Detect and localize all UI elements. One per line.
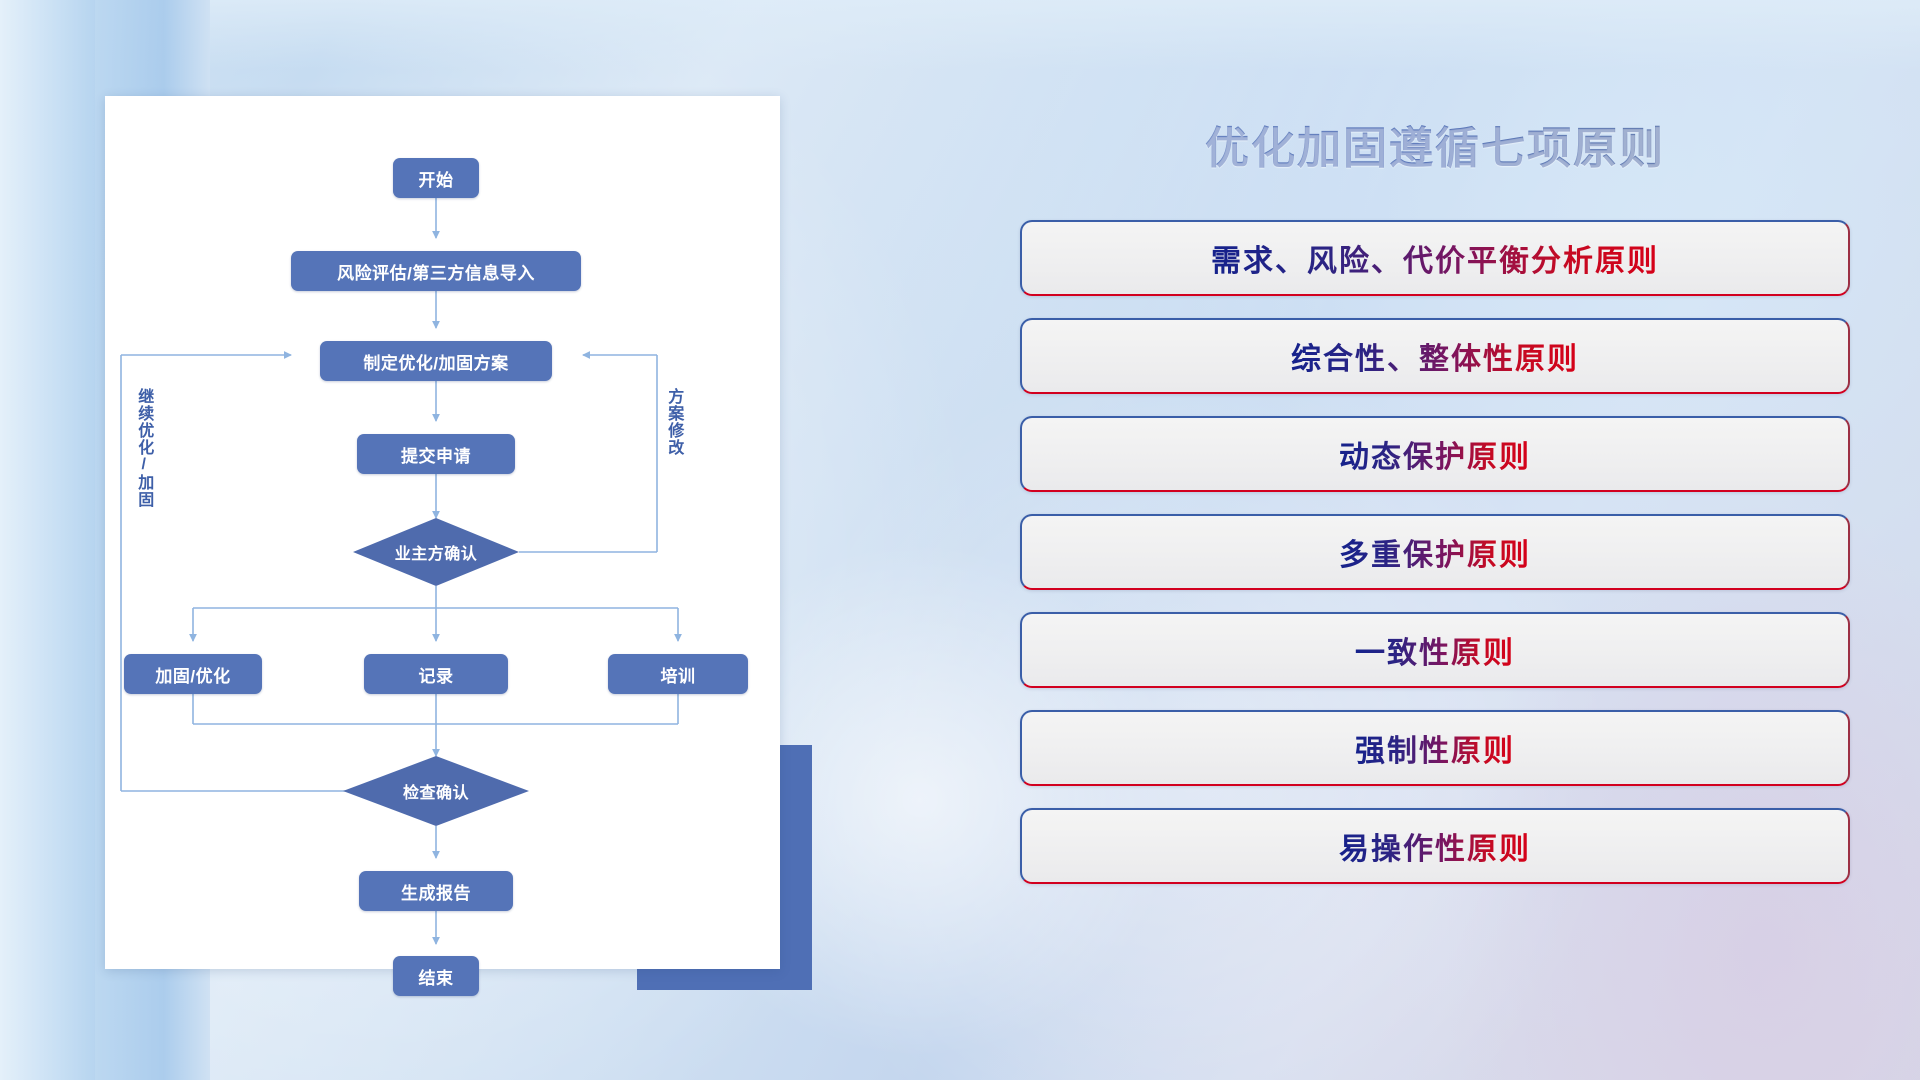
flow-node-plan[interactable]: 制定优化/加固方案 xyxy=(320,341,552,381)
flow-node-label: 生成报告 xyxy=(401,879,471,904)
flow-node-label: 加固/优化 xyxy=(155,662,230,687)
flow-node-training[interactable]: 培训 xyxy=(608,654,748,694)
background-left-highlight xyxy=(0,0,95,1080)
flow-node-label: 结束 xyxy=(419,964,454,989)
principle-label: 易操作性原则 xyxy=(1339,824,1531,868)
principle-label: 强制性原则 xyxy=(1355,726,1515,770)
flow-node-check-confirm[interactable]: 检查确认 xyxy=(343,756,529,826)
principles-panel: 优化加固遵循七项原则 需求、风险、代价平衡分析原则 综合性、整体性原则 动态保护… xyxy=(1020,96,1850,1016)
flow-node-record[interactable]: 记录 xyxy=(364,654,508,694)
principles-list: 需求、风险、代价平衡分析原则 综合性、整体性原则 动态保护原则 多重保护原则 一… xyxy=(1020,220,1850,884)
flow-node-label: 风险评估/第三方信息导入 xyxy=(337,259,535,284)
flow-node-label: 提交申请 xyxy=(401,442,471,467)
principle-item[interactable]: 多重保护原则 xyxy=(1020,514,1850,590)
principle-label: 一致性原则 xyxy=(1355,628,1515,672)
principle-item[interactable]: 综合性、整体性原则 xyxy=(1020,318,1850,394)
flow-node-risk-assessment[interactable]: 风险评估/第三方信息导入 xyxy=(291,251,581,291)
principle-item[interactable]: 易操作性原则 xyxy=(1020,808,1850,884)
flow-node-label: 开始 xyxy=(419,166,454,191)
flow-edge-label-left: 继续优化/加固 xyxy=(135,388,152,508)
flow-node-label: 记录 xyxy=(419,662,454,687)
flow-node-label: 业主方确认 xyxy=(395,540,478,564)
principle-label: 综合性、整体性原则 xyxy=(1291,334,1579,378)
flow-node-submit[interactable]: 提交申请 xyxy=(357,434,515,474)
principle-label: 需求、风险、代价平衡分析原则 xyxy=(1211,236,1659,280)
flow-node-start[interactable]: 开始 xyxy=(393,158,479,198)
principle-item[interactable]: 需求、风险、代价平衡分析原则 xyxy=(1020,220,1850,296)
background-top-glow xyxy=(0,0,1920,70)
principle-label: 动态保护原则 xyxy=(1339,432,1531,476)
flow-node-reinforce[interactable]: 加固/优化 xyxy=(124,654,262,694)
flow-node-label: 制定优化/加固方案 xyxy=(363,349,508,374)
flow-node-label: 检查确认 xyxy=(403,779,469,803)
principle-label: 多重保护原则 xyxy=(1339,530,1531,574)
flow-node-label: 培训 xyxy=(661,662,696,687)
flow-node-end[interactable]: 结束 xyxy=(393,956,479,996)
principle-item[interactable]: 一致性原则 xyxy=(1020,612,1850,688)
flowchart-card: 开始 风险评估/第三方信息导入 制定优化/加固方案 提交申请 业主方确认 加固/… xyxy=(105,96,780,969)
page-title: 优化加固遵循七项原则 xyxy=(1020,112,1850,176)
principle-item[interactable]: 强制性原则 xyxy=(1020,710,1850,786)
flow-edge-label-right: 方案修改 xyxy=(665,388,682,456)
principle-item[interactable]: 动态保护原则 xyxy=(1020,416,1850,492)
flow-node-owner-confirm[interactable]: 业主方确认 xyxy=(353,518,519,586)
flow-node-report[interactable]: 生成报告 xyxy=(359,871,513,911)
slide-canvas: 开始 风险评估/第三方信息导入 制定优化/加固方案 提交申请 业主方确认 加固/… xyxy=(0,0,1920,1080)
